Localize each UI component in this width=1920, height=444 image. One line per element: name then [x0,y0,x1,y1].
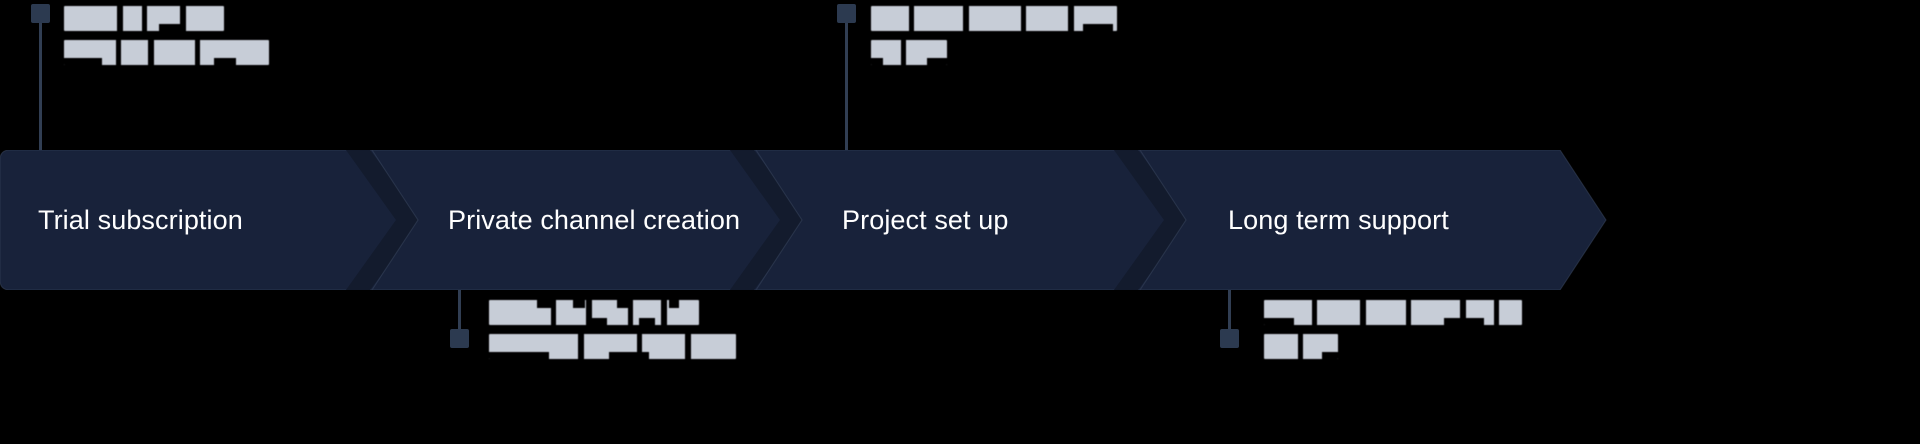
connector-node [1220,329,1239,348]
annotation-top-right [871,6,1117,65]
connector-1 [39,8,42,153]
connector-node [31,4,50,23]
connector-node [450,329,469,348]
annotation-top-left [64,6,269,65]
connector-stem [39,8,42,153]
redacted-text-line [64,40,269,65]
redacted-text-line [1264,334,1338,359]
step-label-step-1: Trial subscription [38,207,243,234]
redacted-text-line [64,6,224,31]
redacted-text-line [489,300,699,325]
step-label-step-2: Private channel creation [448,207,740,234]
redacted-text-line [489,334,736,359]
redacted-text-line [871,40,947,65]
connector-stem [845,8,848,153]
step-label-step-3: Project set up [842,207,1009,234]
diagram-canvas: Trial subscriptionPrivate channel creati… [0,0,1920,444]
connector-2 [845,8,848,153]
redacted-text-line [871,6,1117,31]
annotation-bottom-right [1264,300,1522,359]
connector-4 [1228,288,1231,344]
step-label-step-4: Long term support [1228,207,1449,234]
redacted-text-line [1264,300,1522,325]
annotation-bottom-left [489,300,736,359]
connector-3 [458,288,461,344]
connector-node [837,4,856,23]
